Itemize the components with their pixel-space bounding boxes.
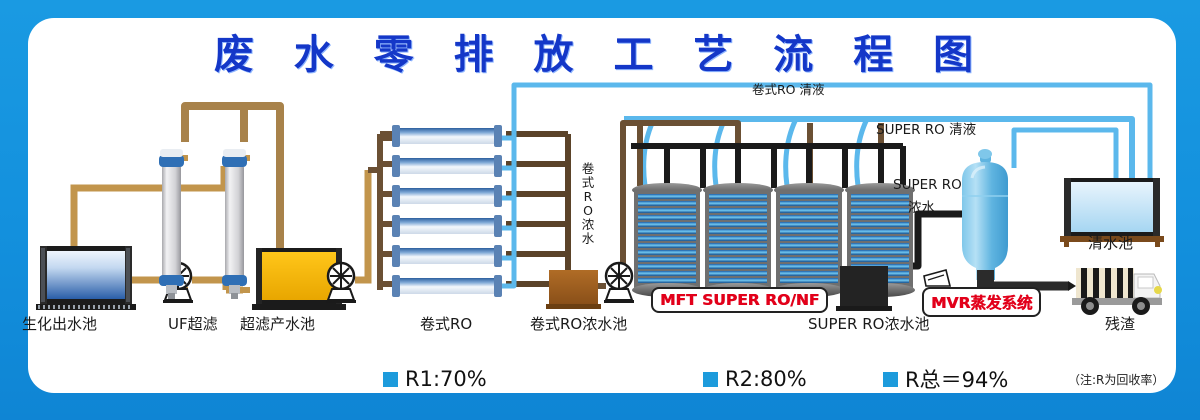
legend-swatch-icon xyxy=(703,372,718,387)
label-spiral-ro-concentrate-vertical: 卷 式 R O 浓 水 xyxy=(580,162,596,246)
mvr-condensate-to-clean-tank xyxy=(1014,130,1116,178)
spiral-ro-concentrate-tank-graphic xyxy=(546,270,601,309)
label-biochem-effluent-tank: 生化出水池 xyxy=(22,313,97,334)
label-spiral-ro-permeate: 卷式RO 清液 xyxy=(752,79,825,98)
mft-column xyxy=(632,183,702,297)
uf-filter-1 xyxy=(159,149,184,299)
ro-vessel xyxy=(392,275,502,297)
pump-3 xyxy=(604,263,634,303)
label-uf-ultrafiltration: UF超滤 xyxy=(168,313,218,334)
super-ro-concentrate-tank-graphic xyxy=(836,266,892,311)
legend-label-r1: R1:70% xyxy=(405,367,487,391)
mvr-evaporation-badge: MVR蒸发系统 xyxy=(922,287,1041,317)
ro-vessel xyxy=(392,185,502,207)
legend-swatch-icon xyxy=(383,372,398,387)
legend-item-r1: R1:70% xyxy=(383,367,487,391)
mft-super-ro-nf-badge: MFT SUPER RO/NF xyxy=(651,287,828,313)
vlabel-char: R xyxy=(580,190,596,204)
pump-2 xyxy=(326,263,356,303)
page-title: 废 水 零 排 放 工 艺 流 程 图 xyxy=(0,22,1200,80)
flow-diagram-page: 废 水 零 排 放 工 艺 流 程 图 生化出水池 UF超滤 超滤产水池 卷式R… xyxy=(0,0,1200,420)
ro-vessel xyxy=(392,215,502,237)
label-spiral-ro-concentrate-tank: 卷式RO浓水池 xyxy=(530,313,627,334)
label-spiral-ro: 卷式RO xyxy=(420,313,472,334)
legend-item-r2: R2:80% xyxy=(703,367,807,391)
vlabel-char: 卷 xyxy=(580,162,596,176)
mvr-evaporator-graphic xyxy=(962,149,1008,290)
legend-note: （注:R为回收率） xyxy=(1068,371,1164,388)
mft-permeate-risers xyxy=(644,119,867,186)
vlabel-char: O xyxy=(580,204,596,218)
ro-vessel xyxy=(392,155,502,177)
legend: R1:70% R2:80% R总＝94% （注:R为回收率） xyxy=(28,362,1176,396)
mft-column xyxy=(774,183,844,297)
label-super-ro-permeate: SUPER RO 清液 xyxy=(876,118,976,138)
vlabel-char: 式 xyxy=(580,176,596,190)
legend-item-total: R总＝94% xyxy=(883,364,1008,394)
spiral-ro-inlet-manifold xyxy=(380,134,394,290)
uf-filter-2 xyxy=(222,149,247,299)
ro-vessel xyxy=(392,125,502,147)
vlabel-char: 水 xyxy=(580,232,596,246)
label-residue: 残渣 xyxy=(1105,313,1135,334)
label-super-ro-concentrate-line1: SUPER RO xyxy=(893,177,962,193)
legend-swatch-icon xyxy=(883,372,898,387)
legend-label-total: R总＝94% xyxy=(905,364,1008,394)
label-uf-product-water-tank: 超滤产水池 xyxy=(240,313,315,334)
residue-truck-graphic xyxy=(1072,268,1162,315)
label-super-ro-concentrate-line2: 浓水 xyxy=(908,196,935,216)
discharge-valve xyxy=(924,270,950,286)
ro-vessel xyxy=(392,245,502,267)
legend-label-r2: R2:80% xyxy=(725,367,807,391)
biochem-effluent-tank-graphic xyxy=(36,246,136,310)
vlabel-char: 浓 xyxy=(580,218,596,232)
label-super-ro-concentrate-tank: SUPER RO浓水池 xyxy=(808,313,929,334)
spiral-ro-vessels xyxy=(392,125,502,297)
label-clean-water-tank: 清水池 xyxy=(1088,232,1133,253)
mft-column xyxy=(703,183,773,297)
